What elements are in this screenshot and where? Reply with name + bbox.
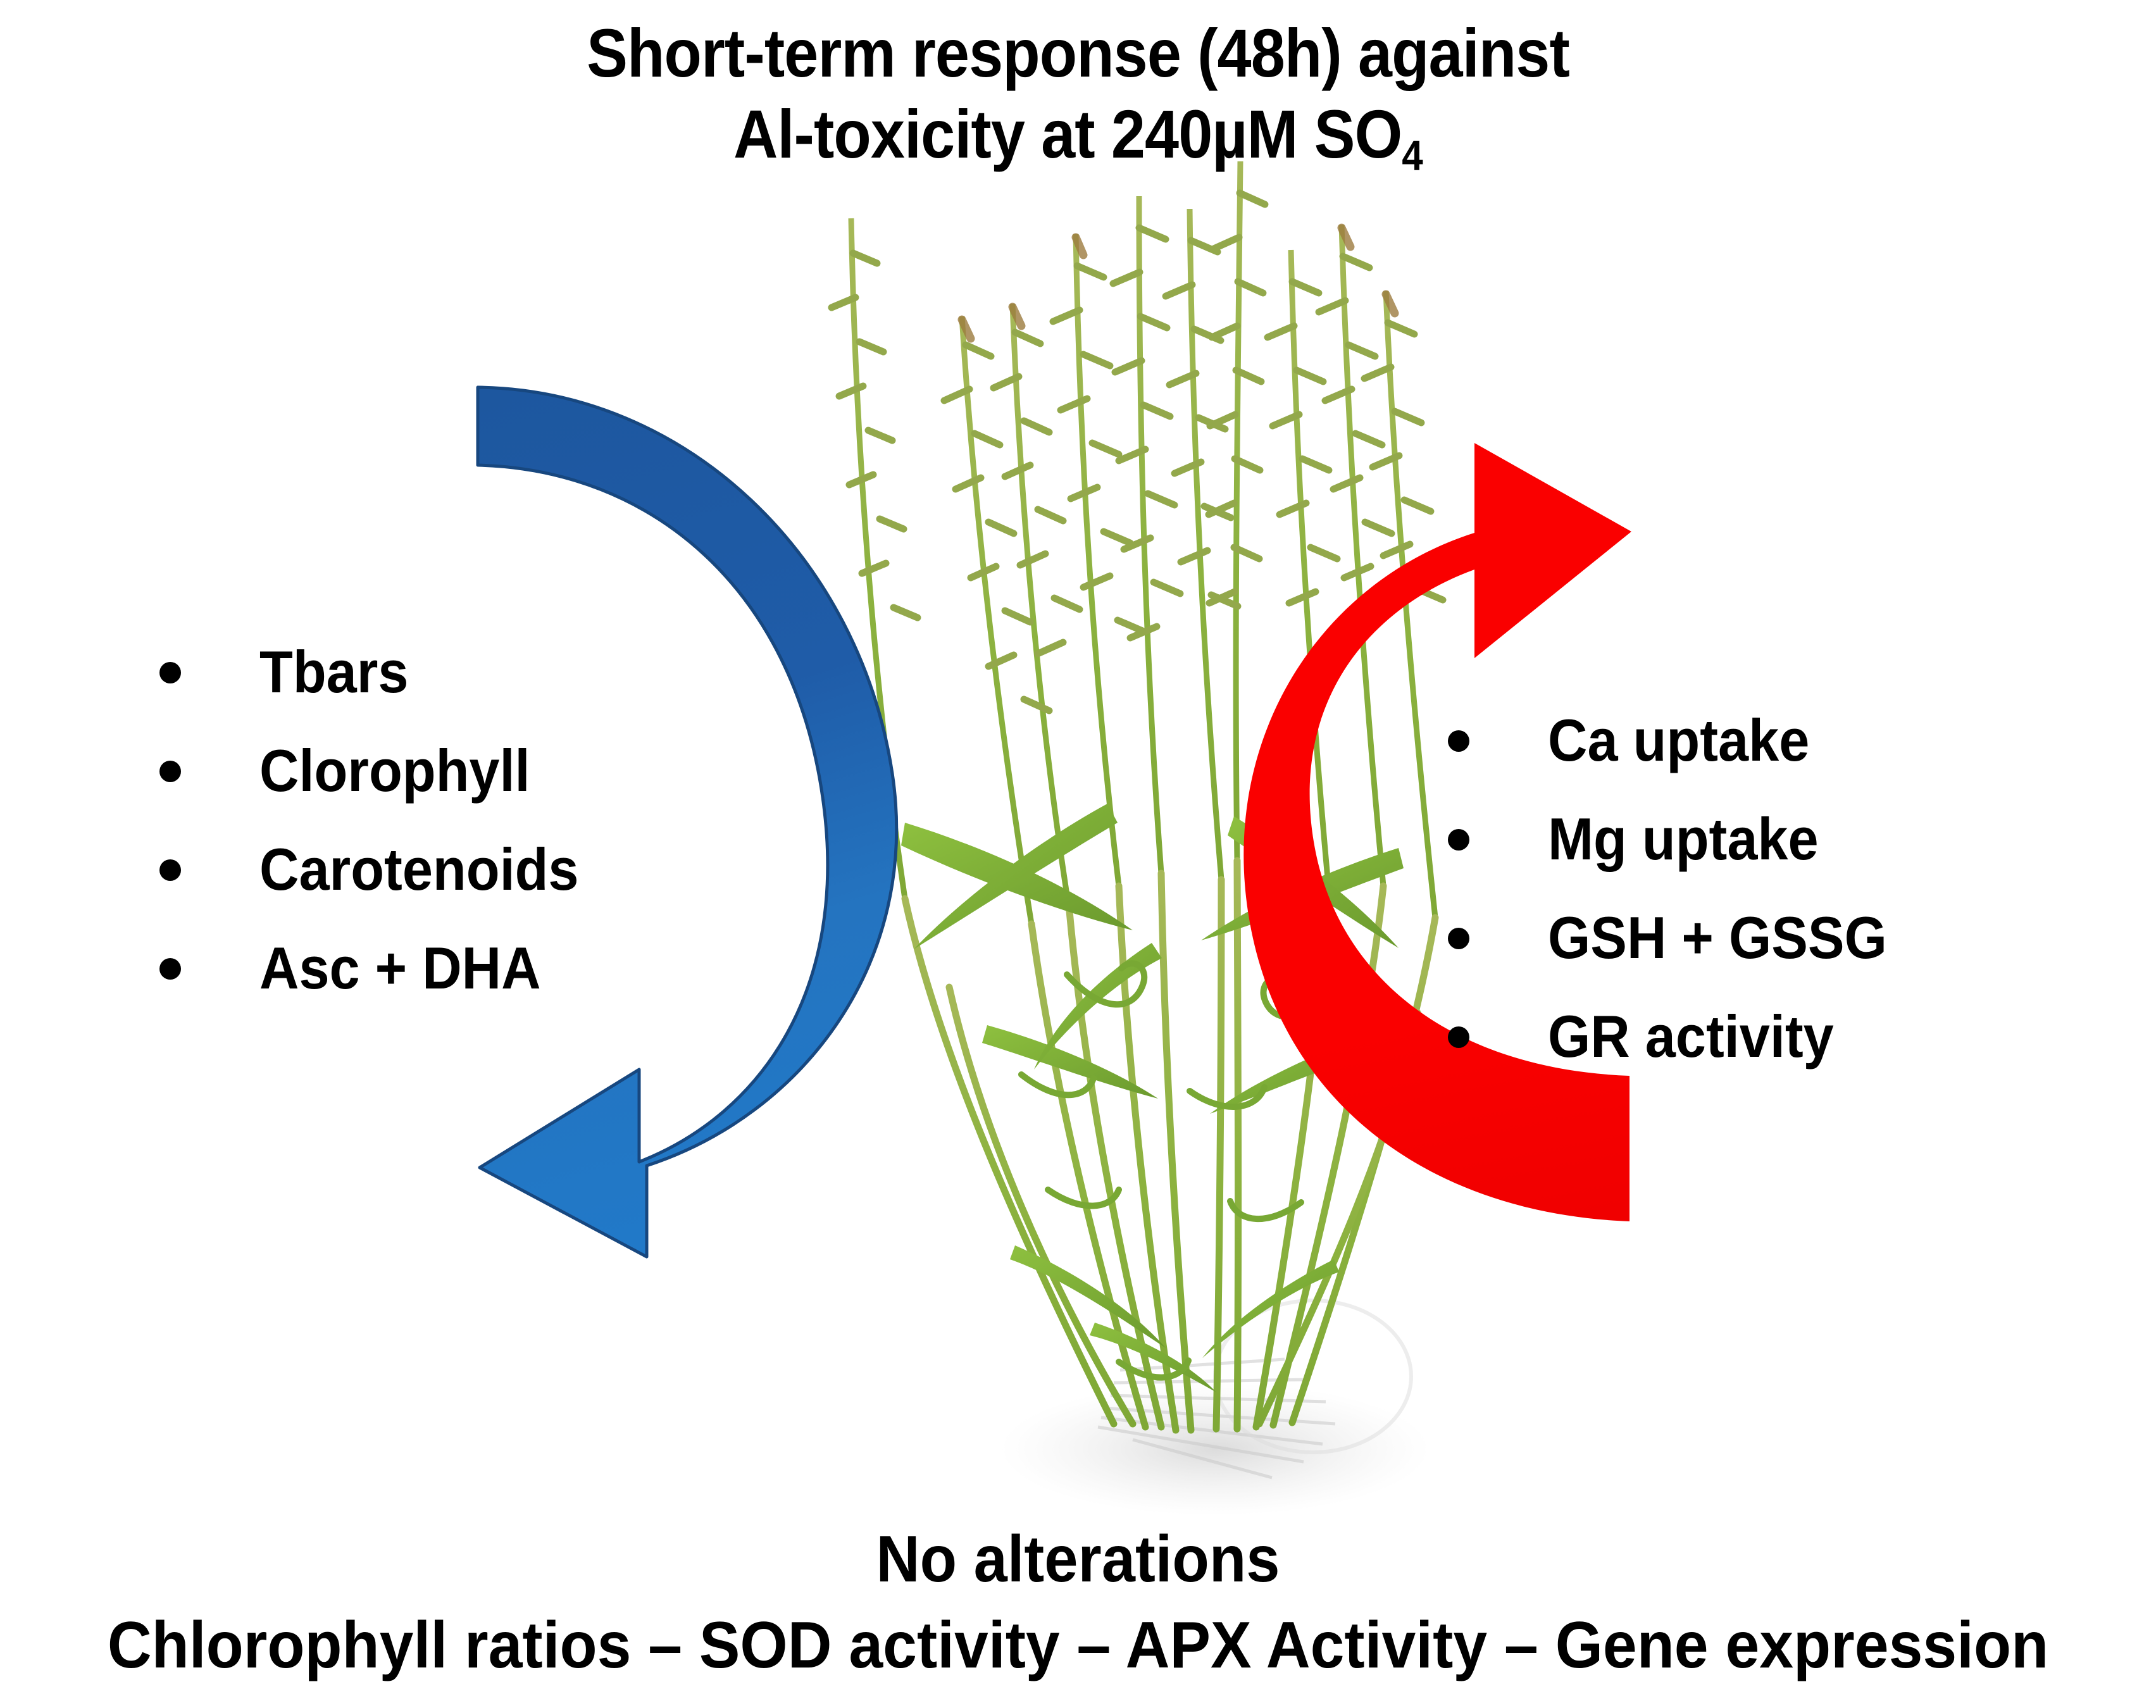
increase-parameters-list: Ca uptake Mg uptake GSH + GSSG GR activi… xyxy=(1448,705,1916,1100)
decrease-parameters-list: Tbars Clorophyll Carotenoids Asc + DHA xyxy=(159,637,606,1032)
bullet-icon xyxy=(1448,730,1469,752)
bullet-icon xyxy=(1448,928,1469,949)
list-item-label: GSH + GSSG xyxy=(1548,902,1887,973)
list-item: Tbars xyxy=(159,637,606,708)
bullet-icon xyxy=(1448,1026,1469,1048)
list-item: Carotenoids xyxy=(159,834,606,905)
list-item: Clorophyll xyxy=(159,735,606,806)
bullet-icon xyxy=(159,662,181,683)
bullet-icon xyxy=(1448,829,1469,851)
list-item-label: Ca uptake xyxy=(1548,705,1809,776)
list-item-label: GR activity xyxy=(1548,1001,1834,1072)
list-item-label: Carotenoids xyxy=(259,834,579,905)
list-item-label: Asc + DHA xyxy=(259,933,541,1004)
no-alterations-heading: No alterations xyxy=(86,1521,2069,1597)
bullet-icon xyxy=(159,761,181,782)
list-item: Ca uptake xyxy=(1448,705,1916,776)
list-item: GSH + GSSG xyxy=(1448,902,1916,973)
list-item-label: Tbars xyxy=(259,637,409,708)
bullet-icon xyxy=(159,958,181,980)
list-item-label: Clorophyll xyxy=(259,735,530,806)
list-item: Mg uptake xyxy=(1448,804,1916,875)
graphical-abstract-canvas: Short-term response (48h) against Al-tox… xyxy=(0,0,2156,1708)
bullet-icon xyxy=(159,859,181,881)
list-item: Asc + DHA xyxy=(159,933,606,1004)
list-item-label: Mg uptake xyxy=(1548,804,1819,875)
list-item: GR activity xyxy=(1448,1001,1916,1072)
no-alterations-block: No alterations Chlorophyll ratios – SOD … xyxy=(0,1521,2156,1685)
no-alterations-detail: Chlorophyll ratios – SOD activity – APX … xyxy=(75,1606,2081,1685)
